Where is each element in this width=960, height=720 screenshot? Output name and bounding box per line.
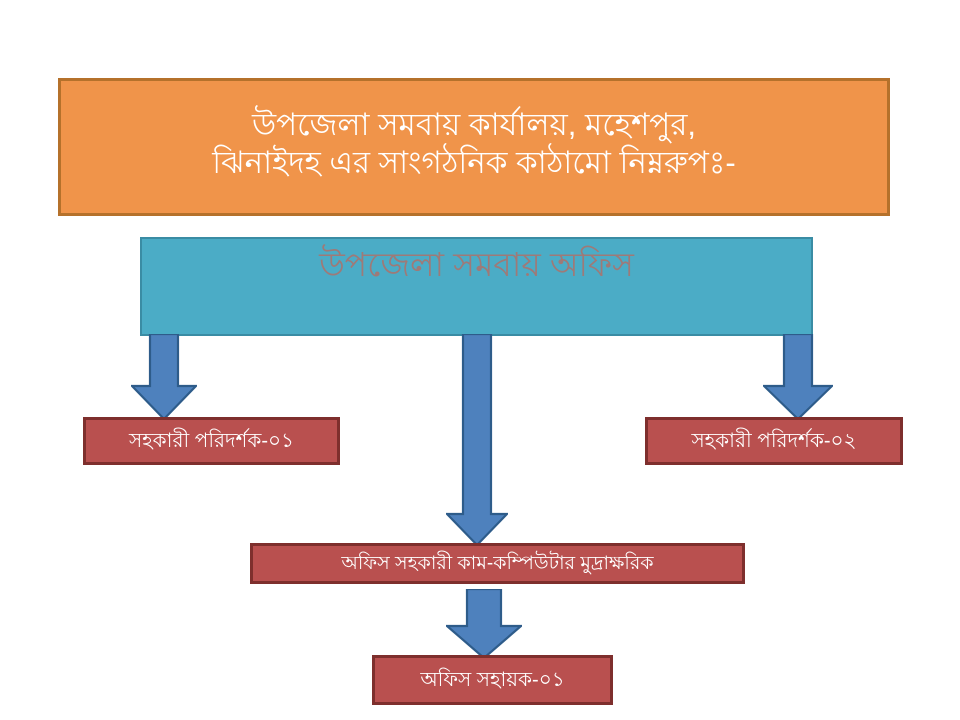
arrow-clerk-to-helper <box>446 589 522 659</box>
node-office[interactable]: উপজেলা সমবায় অফিস <box>140 237 813 336</box>
title-banner: উপজেলা সমবায় কার্যালয়, মহেশপুর, ঝিনাইদ… <box>58 78 890 216</box>
organogram-canvas: উপজেলা সমবায় কার্যালয়, মহেশপুর, ঝিনাইদ… <box>0 0 960 720</box>
title-line-1: উপজেলা সমবায় কার্যালয়, মহেশপুর, <box>252 106 696 144</box>
title-line-2: ঝিনাইদহ এর সাংগঠনিক কাঠামো নিম্নরুপঃ- <box>212 144 735 182</box>
node-assistant-inspector-2-label: সহকারী পরিদর্শক-০২ <box>691 429 856 453</box>
node-assistant-inspector-1-label: সহকারী পরিদর্শক-০১ <box>129 429 294 453</box>
node-office-label: উপজেলা সমবায় অফিস <box>319 245 634 285</box>
arrow-office-to-clerk <box>446 334 508 546</box>
node-office-assistant-computer-typist[interactable]: অফিস সহকারী কাম-কম্পিউটার মুদ্রাক্ষরিক <box>250 543 745 584</box>
node-assistant-inspector-1[interactable]: সহকারী পরিদর্শক-০১ <box>83 417 340 465</box>
node-assistant-inspector-2[interactable]: সহকারী পরিদর্শক-০২ <box>645 417 903 465</box>
node-office-helper-label: অফিস সহায়ক-০১ <box>420 668 564 692</box>
node-office-helper[interactable]: অফিস সহায়ক-০১ <box>372 655 613 705</box>
arrow-office-to-inspector1 <box>131 334 197 420</box>
node-office-assistant-computer-typist-label: অফিস সহকারী কাম-কম্পিউটার মুদ্রাক্ষরিক <box>341 552 653 575</box>
arrow-office-to-inspector2 <box>763 334 833 420</box>
